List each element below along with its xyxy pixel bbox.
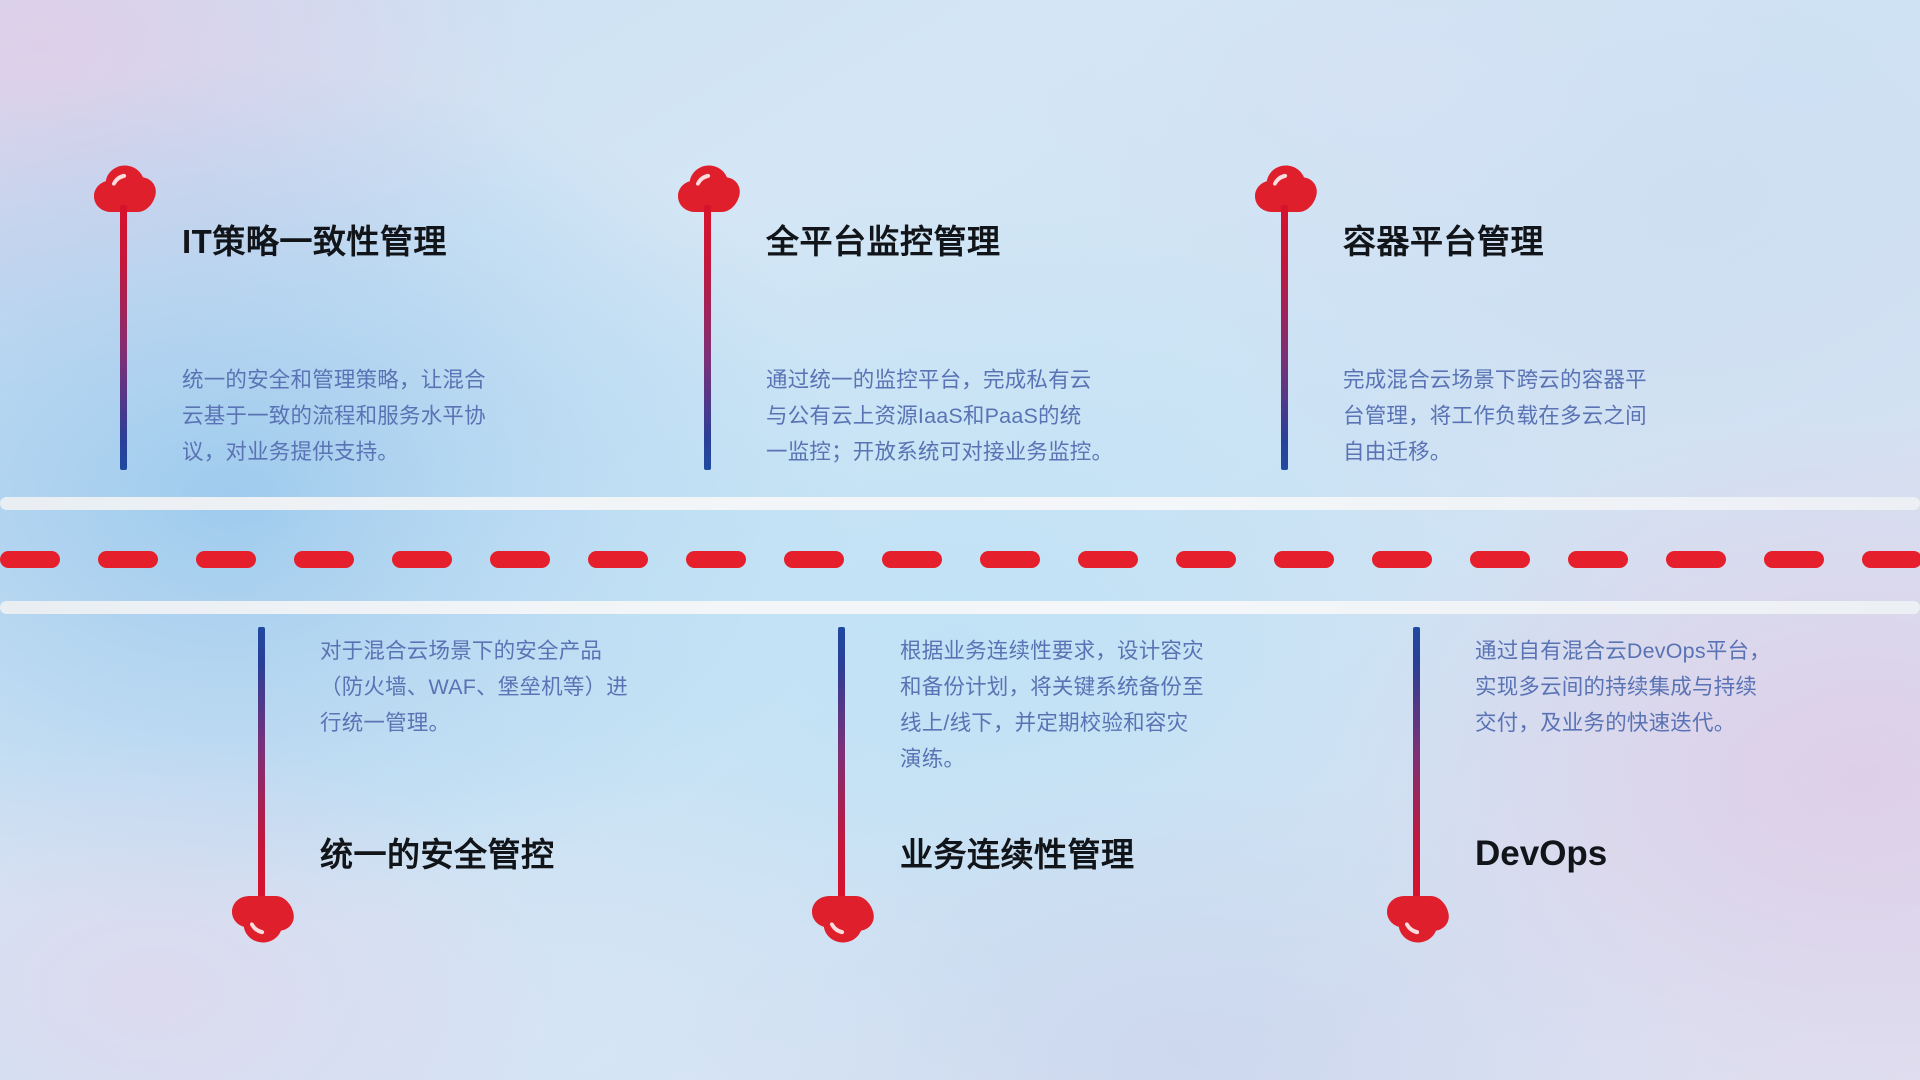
capability-stem [704,205,711,470]
road-dash [980,551,1040,568]
cloud-pin-icon [810,895,874,945]
road-dash-markings [0,551,1920,568]
road-dash [1176,551,1236,568]
road-dash [1862,551,1920,568]
infographic-stage: IT策略一致性管理 统一的安全和管理策略，让混合 云基于一致的流程和服务水平协 … [0,0,1920,1080]
road-edge-top [0,497,1920,510]
capability-title: DevOps [1475,836,1607,871]
road-dash [784,551,844,568]
road-dash [1764,551,1824,568]
road-dash [1078,551,1138,568]
capability-title: IT策略一致性管理 [182,225,447,258]
capability-description: 通过自有混合云DevOps平台， 实现多云间的持续集成与持续 交付，及业务的快速… [1475,633,1905,741]
capability-description: 通过统一的监控平台，完成私有云 与公有云上资源IaaS和PaaS的统 一监控；开… [766,362,1226,470]
capability-title: 业务连续性管理 [900,838,1135,871]
cloud-pin-icon [1385,895,1449,945]
road-dash [392,551,452,568]
capability-stem [120,205,127,470]
capability-description: 对于混合云场景下的安全产品 （防火墙、WAF、堡垒机等）进 行统一管理。 [320,633,760,741]
road-edge-bottom [0,601,1920,614]
road-dash [1666,551,1726,568]
road-dash [1372,551,1432,568]
road-dash [1470,551,1530,568]
capability-title: 统一的安全管控 [320,838,555,871]
capability-title: 全平台监控管理 [766,225,1001,258]
road-dash [490,551,550,568]
capability-description: 完成混合云场景下跨云的容器平 台管理，将工作负载在多云之间 自由迁移。 [1343,362,1793,470]
road-dash [196,551,256,568]
capability-title: 容器平台管理 [1343,225,1544,258]
capability-stem [258,627,265,897]
road-dash [294,551,354,568]
road-dash [98,551,158,568]
road-dash [588,551,648,568]
capability-stem [1413,627,1420,897]
capability-stem [1281,205,1288,470]
road-dash [0,551,60,568]
capability-stem [838,627,845,897]
road-dash [1568,551,1628,568]
road-dash [882,551,942,568]
road-dash [686,551,746,568]
capability-description: 统一的安全和管理策略，让混合 云基于一致的流程和服务水平协 议，对业务提供支持。 [182,362,622,470]
road-dash [1274,551,1334,568]
cloud-pin-icon [230,895,294,945]
capability-description: 根据业务连续性要求，设计容灾 和备份计划，将关键系统备份至 线上/线下，并定期校… [900,633,1340,777]
